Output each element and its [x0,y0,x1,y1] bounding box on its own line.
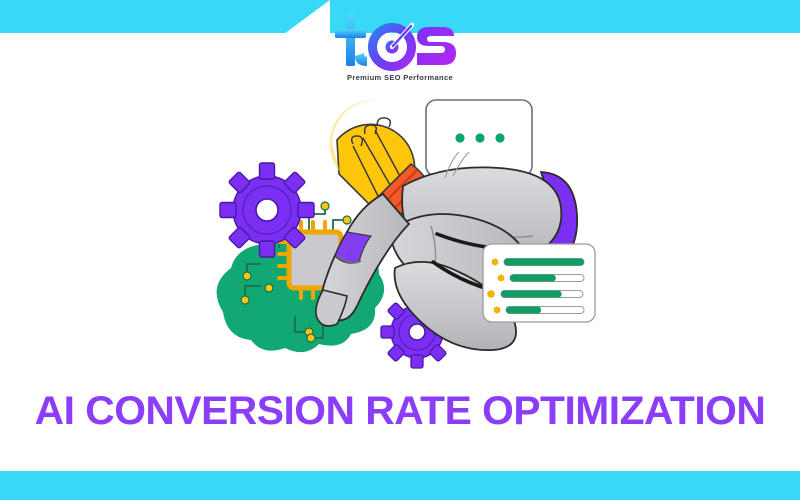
banner-canvas: Premium SEO Performance [0,0,800,500]
page-title: AI CONVERSION RATE OPTIMIZATION [0,385,800,437]
progress-bullet-3 [487,290,495,298]
bubble-dot-2 [475,133,484,142]
progress-card [483,244,595,322]
progress-fill-2 [510,275,556,282]
progress-fill-4 [506,307,541,314]
logo-letter-o [373,25,413,67]
progress-fill-3 [501,291,562,298]
bottom-accent-bar [0,471,800,500]
progress-bullet-4 [494,307,501,314]
progress-bullet-1 [492,259,499,266]
logo-mark [330,12,470,72]
progress-bullet-2 [498,275,505,282]
logo-letter-s [417,27,456,65]
brand-logo[interactable]: Premium SEO Performance [330,12,470,84]
gear-large-icon [220,163,314,257]
logo-letter-t [335,14,367,66]
bubble-dot-1 [455,133,464,142]
progress-fill-1 [504,259,584,266]
bubble-dot-3 [495,133,504,142]
hero-illustration [195,80,615,400]
